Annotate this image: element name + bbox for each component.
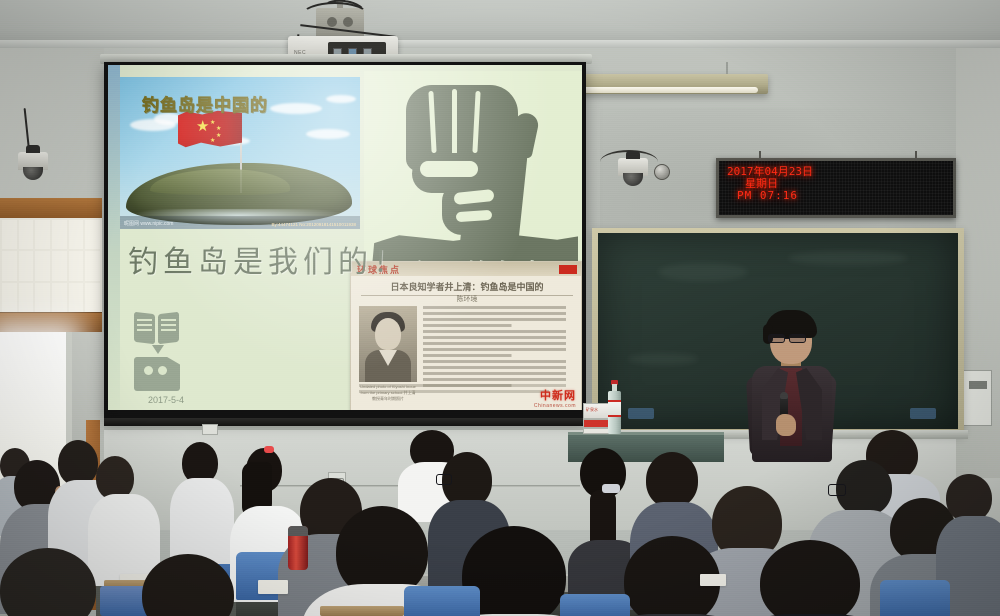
newspaper-watermark: 中新网 Chinanews.com xyxy=(534,387,576,409)
watermark-en: Chinanews.com xyxy=(534,403,576,409)
newspaper-byline: 陈环境 xyxy=(361,294,573,304)
flag-star-icon: ★ xyxy=(196,121,209,133)
slide-photo-title: 钓鱼岛是中国的 xyxy=(142,91,268,116)
classroom-scene: NEC 2017年04月23日 星期日 PM 07:16 钓鱼岛是中国的 xyxy=(0,0,1000,616)
led-time-line: PM 07:16 xyxy=(719,190,953,202)
screen-bottom-weight-bar xyxy=(104,418,586,426)
slide-left-strip xyxy=(108,65,120,410)
dome-camera-left-icon xyxy=(18,152,48,170)
glass-block-window xyxy=(0,218,102,314)
chair[interactable] xyxy=(404,586,480,616)
bottle-label xyxy=(608,400,621,417)
paper-sheet[interactable] xyxy=(700,574,726,586)
flag-star-icon: ★ xyxy=(216,130,221,142)
board-magnet[interactable] xyxy=(628,408,654,419)
led-date-line: 2017年04月23日 xyxy=(719,161,953,178)
wall-switch-panel[interactable] xyxy=(962,370,992,426)
slide-newspaper-clipping: 环球焦点 日本良知学者井上清：钓鱼岛是中国的 陈环境 Undated photo… xyxy=(350,261,582,410)
photo-credit-left: 昵图网 www.nipic.com xyxy=(124,220,173,227)
window-wood-frame-bottom xyxy=(0,312,102,332)
thermos-flask[interactable] xyxy=(288,526,308,570)
speaker-icon xyxy=(654,164,670,180)
projection-screen[interactable]: 钓鱼岛是中国的 ★ ★ ★ ★ ★ 昵图网 www.nipic.com By:4… xyxy=(104,62,586,418)
desk-surface xyxy=(320,606,404,616)
newspaper-flag-chip xyxy=(559,265,577,274)
photo-credit-right: By:44474121 No:20120918141510011938 xyxy=(272,222,357,227)
board-magnet[interactable] xyxy=(910,408,936,419)
audience xyxy=(0,430,1000,616)
paper-sheet[interactable] xyxy=(258,580,288,594)
flag-star-icon: ★ xyxy=(210,135,215,147)
slide-date-stamp: 2017-5-4 xyxy=(148,395,184,405)
window-wood-frame-top xyxy=(0,198,102,220)
slide-photo-island-flag: 钓鱼岛是中国的 ★ ★ ★ ★ ★ 昵图网 www.nipic.com By:4… xyxy=(120,77,360,229)
projected-slide: 钓鱼岛是中国的 ★ ★ ★ ★ ★ 昵图网 www.nipic.com By:4… xyxy=(108,65,582,410)
slide-icon-group xyxy=(134,313,180,343)
down-arrow-icon xyxy=(152,345,164,354)
dome-camera-right-icon xyxy=(618,158,648,176)
eyeglasses-icon xyxy=(436,474,452,485)
newspaper-portrait-photo xyxy=(359,306,417,382)
film-projector-icon xyxy=(134,357,180,391)
hair-tie xyxy=(602,484,620,493)
hair-clip xyxy=(264,446,274,453)
eyeglasses-icon xyxy=(828,484,846,496)
slide-heading: 钓鱼岛是我们的！ xyxy=(128,237,408,281)
chair[interactable] xyxy=(880,580,950,616)
box-label: 矿泉水 xyxy=(586,407,598,413)
camera-bracket xyxy=(626,151,640,159)
water-bottle[interactable] xyxy=(608,384,621,434)
flag-star-icon: ★ xyxy=(210,117,215,129)
open-book-icon xyxy=(134,313,180,343)
newspaper-body-text xyxy=(423,306,575,388)
eyeglasses-icon xyxy=(768,334,814,344)
led-date-time-sign: 2017年04月23日 星期日 PM 07:16 xyxy=(716,158,956,218)
camera-bracket xyxy=(26,145,40,153)
chair[interactable] xyxy=(560,594,630,616)
watermark-cn: 中新网 xyxy=(534,387,576,403)
